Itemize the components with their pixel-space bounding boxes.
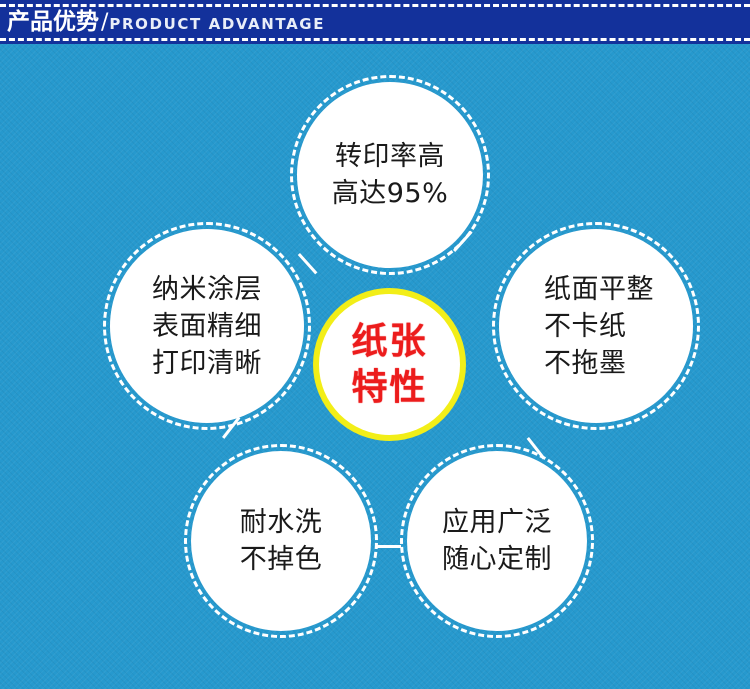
feature-circle-bottom-left[interactable]: 耐水洗 不掉色: [191, 451, 371, 631]
connector-right-to-bottom-right: [527, 437, 545, 459]
feature-label-right: 纸面平整 不卡纸 不拖墨: [538, 271, 654, 382]
center-label: 纸张 特性: [351, 319, 427, 411]
connector-top-to-left: [298, 253, 318, 274]
feature-circle-right[interactable]: 纸面平整 不卡纸 不拖墨: [499, 229, 693, 423]
product-advantage-graphic: 产品优势 / PRODUCT ADVANTAGE 转印率高 高达95% 纳米涂层…: [0, 0, 750, 689]
feature-circle-bottom-right[interactable]: 应用广泛 随心定制: [407, 451, 587, 631]
feature-label-top: 转印率高 高达95%: [332, 138, 449, 212]
feature-label-bottom-left: 耐水洗 不掉色: [240, 504, 323, 578]
feature-circle-left[interactable]: 纳米涂层 表面精细 打印清晰: [110, 229, 304, 423]
feature-circles-diagram: 转印率高 高达95% 纳米涂层 表面精细 打印清晰 纸面平整 不卡纸 不拖墨 耐…: [0, 0, 750, 689]
feature-label-bottom-right: 应用广泛 随心定制: [442, 504, 552, 578]
feature-circle-top[interactable]: 转印率高 高达95%: [297, 82, 483, 268]
feature-label-left: 纳米涂层 表面精细 打印清晰: [152, 271, 262, 382]
connector-bottom-left-to-bottom-right: [377, 545, 401, 548]
center-circle[interactable]: 纸张 特性: [319, 294, 460, 435]
